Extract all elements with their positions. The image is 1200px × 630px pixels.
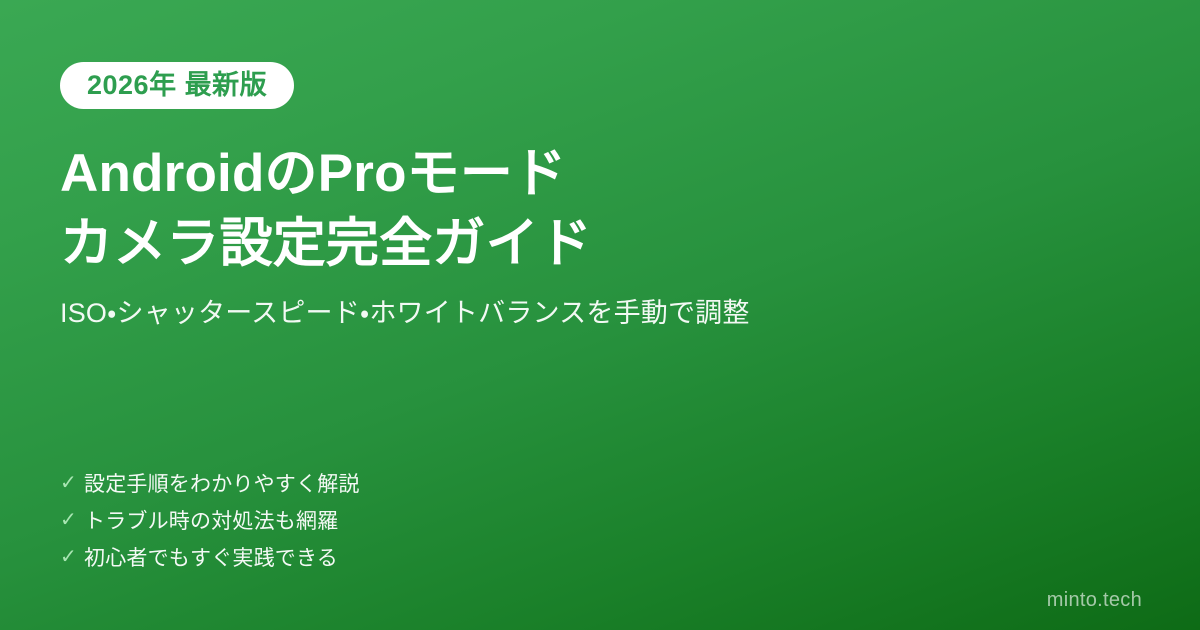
- list-item: ✓ トラブル時の対処法も網羅: [60, 503, 360, 536]
- site-watermark: minto.tech: [1047, 589, 1142, 612]
- page-subtitle: ISO・シャッタースピード・ホワイトバランスを手動で調整: [60, 295, 750, 333]
- check-icon: ✓: [60, 547, 84, 567]
- check-icon: ✓: [60, 510, 84, 530]
- list-item-label: 初心者でもすぐ実践できる: [84, 542, 338, 572]
- list-item-label: 設定手順をわかりやすく解説: [84, 468, 360, 498]
- page-title-line-1: AndroidのProモード: [60, 139, 592, 209]
- list-item-label: トラブル時の対処法も網羅: [84, 505, 338, 535]
- page-title-line-2: カメラ設定完全ガイド: [60, 209, 592, 279]
- page-title: AndroidのProモード カメラ設定完全ガイド: [60, 139, 592, 279]
- list-item: ✓ 設定手順をわかりやすく解説: [60, 466, 360, 499]
- check-icon: ✓: [60, 473, 84, 493]
- og-image-card: 2026年 最新版 AndroidのProモード カメラ設定完全ガイド ISO・…: [0, 0, 1200, 630]
- list-item: ✓ 初心者でもすぐ実践できる: [60, 540, 360, 573]
- feature-checklist: ✓ 設定手順をわかりやすく解説 ✓ トラブル時の対処法も網羅 ✓ 初心者でもすぐ…: [60, 466, 360, 577]
- year-badge: 2026年 最新版: [60, 62, 294, 109]
- badge-row: 2026年 最新版: [60, 62, 294, 109]
